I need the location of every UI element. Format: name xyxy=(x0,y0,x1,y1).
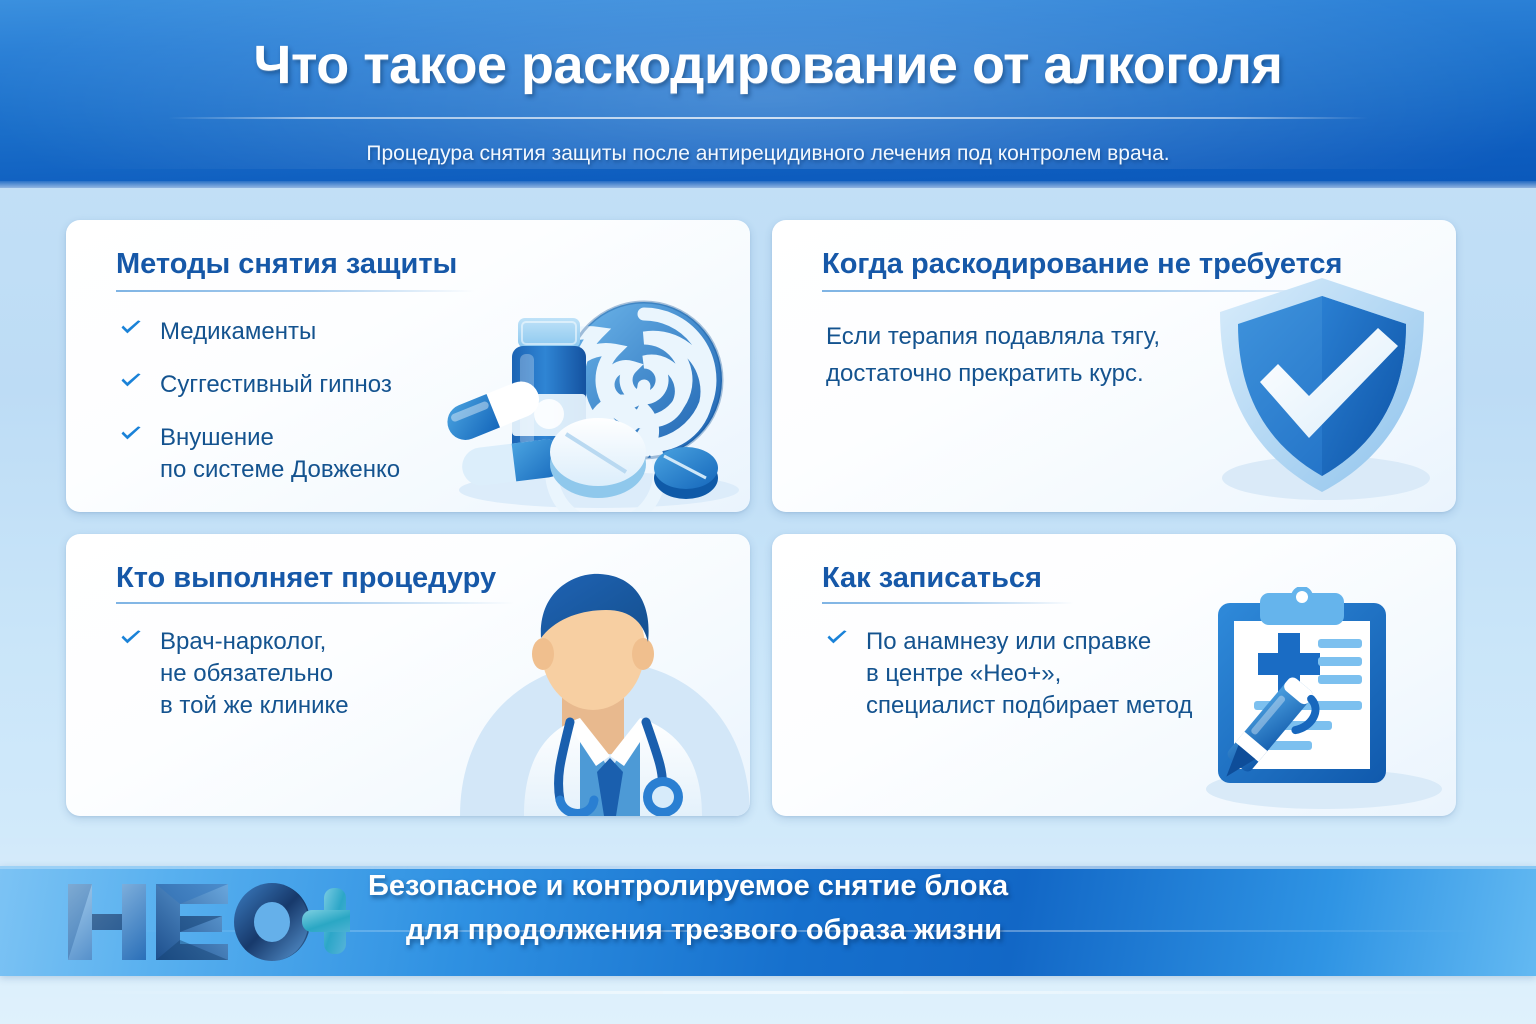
check-icon xyxy=(826,630,848,646)
list-item-line: Внушение xyxy=(160,422,400,454)
list-item-line: в той же клинике xyxy=(160,690,349,722)
list-item: Медикаменты xyxy=(118,316,400,348)
list-item-line: в центре «Нео+», xyxy=(866,658,1192,690)
card-who-performs[interactable]: Кто выполняет процедуру Врач-нарколог, н… xyxy=(66,534,750,816)
page-title: Что такое раскодирование от алкоголя xyxy=(0,34,1536,96)
footer-streak-lower xyxy=(61,991,1505,994)
list-item-line: Суггестивный гипноз xyxy=(160,369,400,401)
card-methods-bullets: Медикаменты Суггестивный гипноз Внушение… xyxy=(118,316,400,486)
clipboard-pen-illustration xyxy=(1196,587,1446,812)
header-divider xyxy=(168,117,1368,119)
tagline-line-1: Безопасное и контролируемое снятие блока xyxy=(360,864,1460,908)
list-item-line: не обязательно xyxy=(160,658,349,690)
footer-tagline: Безопасное и контролируемое снятие блока… xyxy=(360,864,1460,952)
card-how-to-book[interactable]: Как записаться По анамнезу или справке в… xyxy=(772,534,1456,816)
list-item: Внушение по системе Довженко xyxy=(118,422,400,486)
check-icon xyxy=(120,320,142,336)
neo-plus-logo[interactable] xyxy=(64,874,350,970)
card-methods[interactable]: Методы снятия защиты Медикаменты Суггест… xyxy=(66,220,750,512)
card-methods-title-rule xyxy=(116,290,474,292)
card-how-to-book-bullets: По анамнезу или справке в центре «Нео+»,… xyxy=(824,626,1192,722)
card-grid: Методы снятия защиты Медикаменты Суггест… xyxy=(66,220,1470,816)
list-item-line: По анамнезу или справке xyxy=(866,626,1192,658)
card-when-not-needed-title-rule xyxy=(822,290,1378,292)
check-icon xyxy=(120,426,142,442)
list-item-line: по системе Довженко xyxy=(160,454,400,486)
infographic-poster: Что такое раскодирование от алкоголя Про… xyxy=(0,0,1536,1024)
paragraph-line: достаточно прекратить курс. xyxy=(826,355,1160,392)
paragraph-line: Если терапия подавляла тягу, xyxy=(826,318,1160,355)
page-header: Что такое раскодирование от алкоголя Про… xyxy=(0,0,1536,188)
card-methods-title: Методы снятия защиты xyxy=(116,248,457,281)
card-who-performs-title: Кто выполняет процедуру xyxy=(116,562,496,595)
list-item: Врач-нарколог, не обязательно в той же к… xyxy=(118,626,349,722)
card-how-to-book-title-rule xyxy=(822,602,1074,604)
shield-check-illustration xyxy=(1202,266,1442,506)
card-when-not-needed-title: Когда раскодирование не требуется xyxy=(822,248,1342,281)
list-item: Суггестивный гипноз xyxy=(118,369,400,401)
card-who-performs-bullets: Врач-нарколог, не обязательно в той же к… xyxy=(118,626,349,722)
card-when-not-needed-text: Если терапия подавляла тягу, достаточно … xyxy=(826,318,1160,392)
pills-hypnosis-illustration xyxy=(434,284,744,512)
page-subtitle: Процедура снятия защиты после антирециди… xyxy=(0,142,1536,166)
check-icon xyxy=(120,630,142,646)
page-footer: Безопасное и контролируемое снятие блока… xyxy=(0,838,1536,1024)
card-who-performs-title-rule xyxy=(116,602,514,604)
list-item-line: Врач-нарколог, xyxy=(160,626,349,658)
list-item: По анамнезу или справке в центре «Нео+»,… xyxy=(824,626,1192,722)
card-when-not-needed[interactable]: Когда раскодирование не требуется Если т… xyxy=(772,220,1456,512)
list-item-line: специалист подбирает метод xyxy=(866,690,1192,722)
list-item-line: Медикаменты xyxy=(160,316,400,348)
card-how-to-book-title: Как записаться xyxy=(822,562,1042,595)
tagline-line-2: для продолжения трезвого образа жизни xyxy=(360,908,1460,952)
check-icon xyxy=(120,373,142,389)
